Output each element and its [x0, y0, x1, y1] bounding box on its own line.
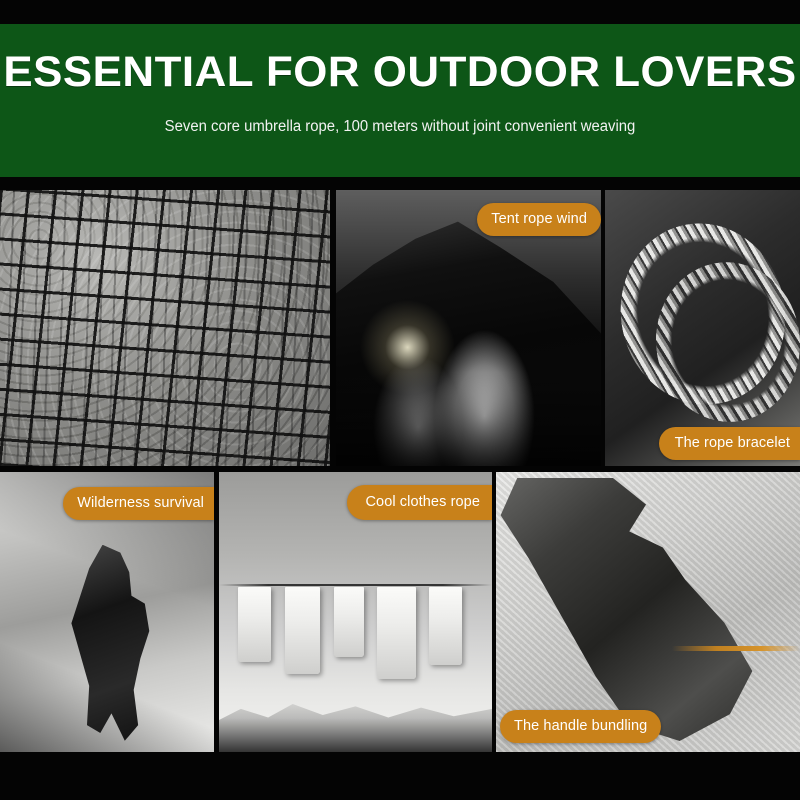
- cloth-item: [238, 587, 271, 663]
- gallery-cell-tents[interactable]: Tent rope wind: [336, 190, 601, 466]
- product-infographic: ESSENTIAL FOR OUTDOOR LOVERS Seven core …: [0, 0, 800, 800]
- cloth-item: [334, 587, 364, 657]
- cloth-item: [377, 587, 415, 679]
- badge-cool-clothes-rope: Cool clothes rope: [347, 485, 492, 520]
- clothesline-wire: [219, 584, 492, 586]
- badge-wilderness-survival: Wilderness survival: [63, 487, 214, 520]
- page-title: ESSENTIAL FOR OUTDOOR LOVERS: [0, 48, 800, 96]
- badge-handle-bundling: The handle bundling: [500, 710, 661, 743]
- badge-tent-rope-wind: Tent rope wind: [477, 203, 601, 236]
- gallery-cell-clothesline[interactable]: Cool clothes rope: [219, 472, 492, 752]
- header-banner: ESSENTIAL FOR OUTDOOR LOVERS Seven core …: [0, 24, 800, 177]
- netting-photo: [0, 190, 330, 466]
- orange-cord-strip: [672, 646, 800, 651]
- page-subtitle: Seven core umbrella rope, 100 meters wit…: [16, 117, 784, 137]
- gallery-cell-bracelet[interactable]: The rope bracelet: [605, 190, 800, 466]
- bracelet-photo: [605, 190, 800, 466]
- badge-rope-bracelet: The rope bracelet: [659, 427, 800, 460]
- gallery-cell-handle[interactable]: The handle bundling: [496, 472, 800, 752]
- gallery-cell-netting[interactable]: netting: [0, 190, 330, 466]
- cloth-item: [429, 587, 462, 665]
- cloth-item: [285, 587, 320, 674]
- gallery-cell-hiker[interactable]: Wilderness survival: [0, 472, 214, 752]
